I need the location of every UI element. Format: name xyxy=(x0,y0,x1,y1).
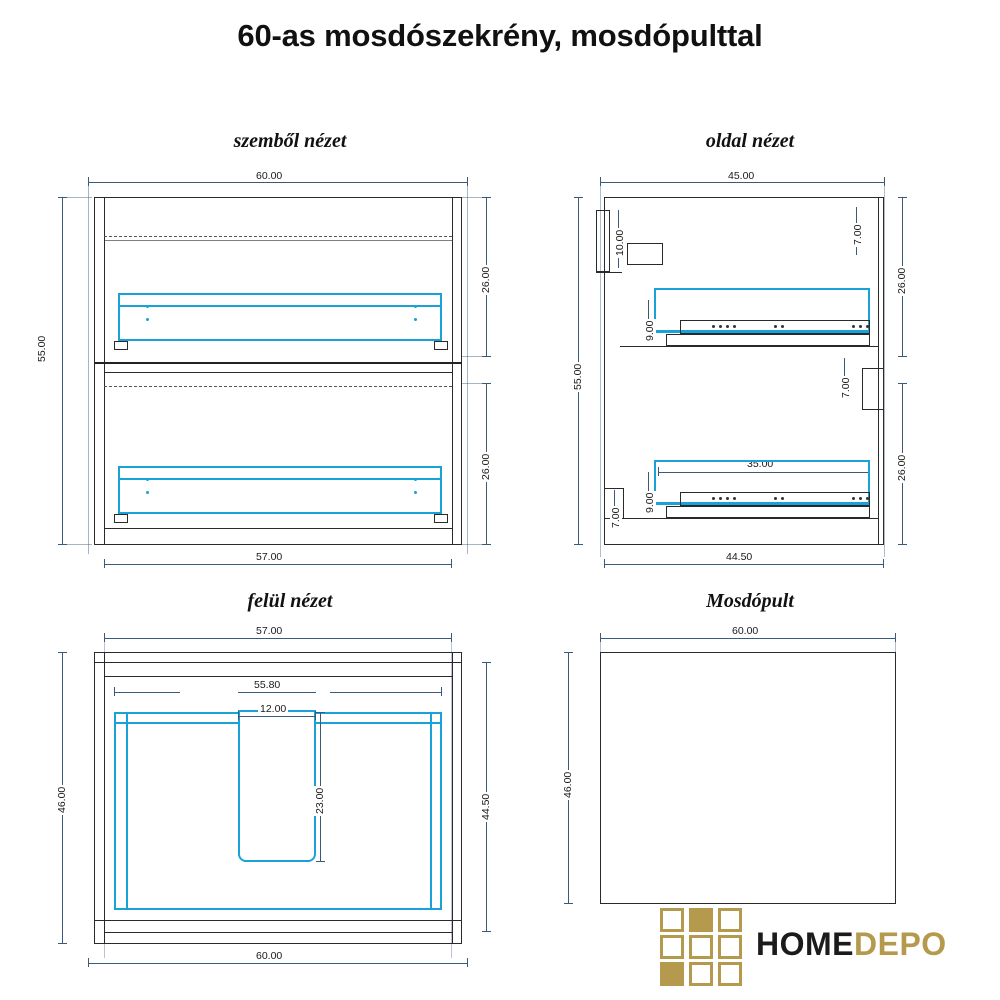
front-total-height-dim: 55.00 xyxy=(36,334,48,364)
side-upper-block-dim: 26.00 xyxy=(896,266,908,296)
top-cutout-width-dim: 12.00 xyxy=(258,703,288,715)
front-height-dimline xyxy=(62,197,63,545)
front-upper-drawer xyxy=(118,293,442,341)
logo-text-home: HOME xyxy=(756,926,854,962)
side-upper-slide-right-dim: 7.00 xyxy=(840,376,852,400)
side-depth-top-dim: 45.00 xyxy=(726,170,756,182)
front-width-top-dim: 60.00 xyxy=(254,170,284,182)
side-depth-bottom-dim: 44.50 xyxy=(724,551,754,563)
view-label-top: felül nézet xyxy=(120,590,460,613)
top-width-inner-dim: 55.80 xyxy=(252,679,282,691)
front-width-bottom-dim: 57.00 xyxy=(254,551,284,563)
top-depth-right-dim: 44.50 xyxy=(480,792,492,822)
side-lower-slide-dim: 9.00 xyxy=(644,491,656,515)
view-label-side: oldal nézet xyxy=(580,130,920,153)
side-lower-slide-left-dim: 7.00 xyxy=(610,506,622,530)
side-upper-slide-dim: 9.00 xyxy=(644,319,656,343)
counter-width-dim: 60.00 xyxy=(730,625,760,637)
side-total-height-dim: 55.00 xyxy=(572,362,584,392)
side-lower-block-dim: 26.00 xyxy=(896,453,908,483)
brand-logo: HOMEDEPO xyxy=(660,908,990,988)
front-lower-drawer xyxy=(118,466,442,514)
top-cutout xyxy=(238,710,316,862)
side-top-left-offset-dim: 10.00 xyxy=(614,228,626,258)
front-lower-drawer-dim: 26.00 xyxy=(480,452,492,482)
front-upper-drawer-dim: 26.00 xyxy=(480,265,492,295)
top-cutout-depth-dim: 23.00 xyxy=(314,786,326,816)
top-width-bottom-dim: 60.00 xyxy=(254,950,284,962)
counter-depth-dim: 46.00 xyxy=(562,770,574,800)
side-top-right-offset-dim: 7.00 xyxy=(852,223,864,247)
front-width-dimline xyxy=(88,182,468,183)
page-title: 60-as mosdószekrény, mosdópulttal xyxy=(0,18,1000,54)
top-width-outer-dim: 57.00 xyxy=(254,625,284,637)
counter-outline xyxy=(600,652,896,904)
view-label-counter: Mosdópult xyxy=(580,590,920,613)
logo-grid-icon xyxy=(660,908,742,986)
top-depth-left-dim: 46.00 xyxy=(56,785,68,815)
logo-wordmark: HOMEDEPO xyxy=(756,926,947,963)
view-label-front: szemből nézet xyxy=(120,130,460,153)
logo-text-depo: DEPO xyxy=(854,926,947,962)
